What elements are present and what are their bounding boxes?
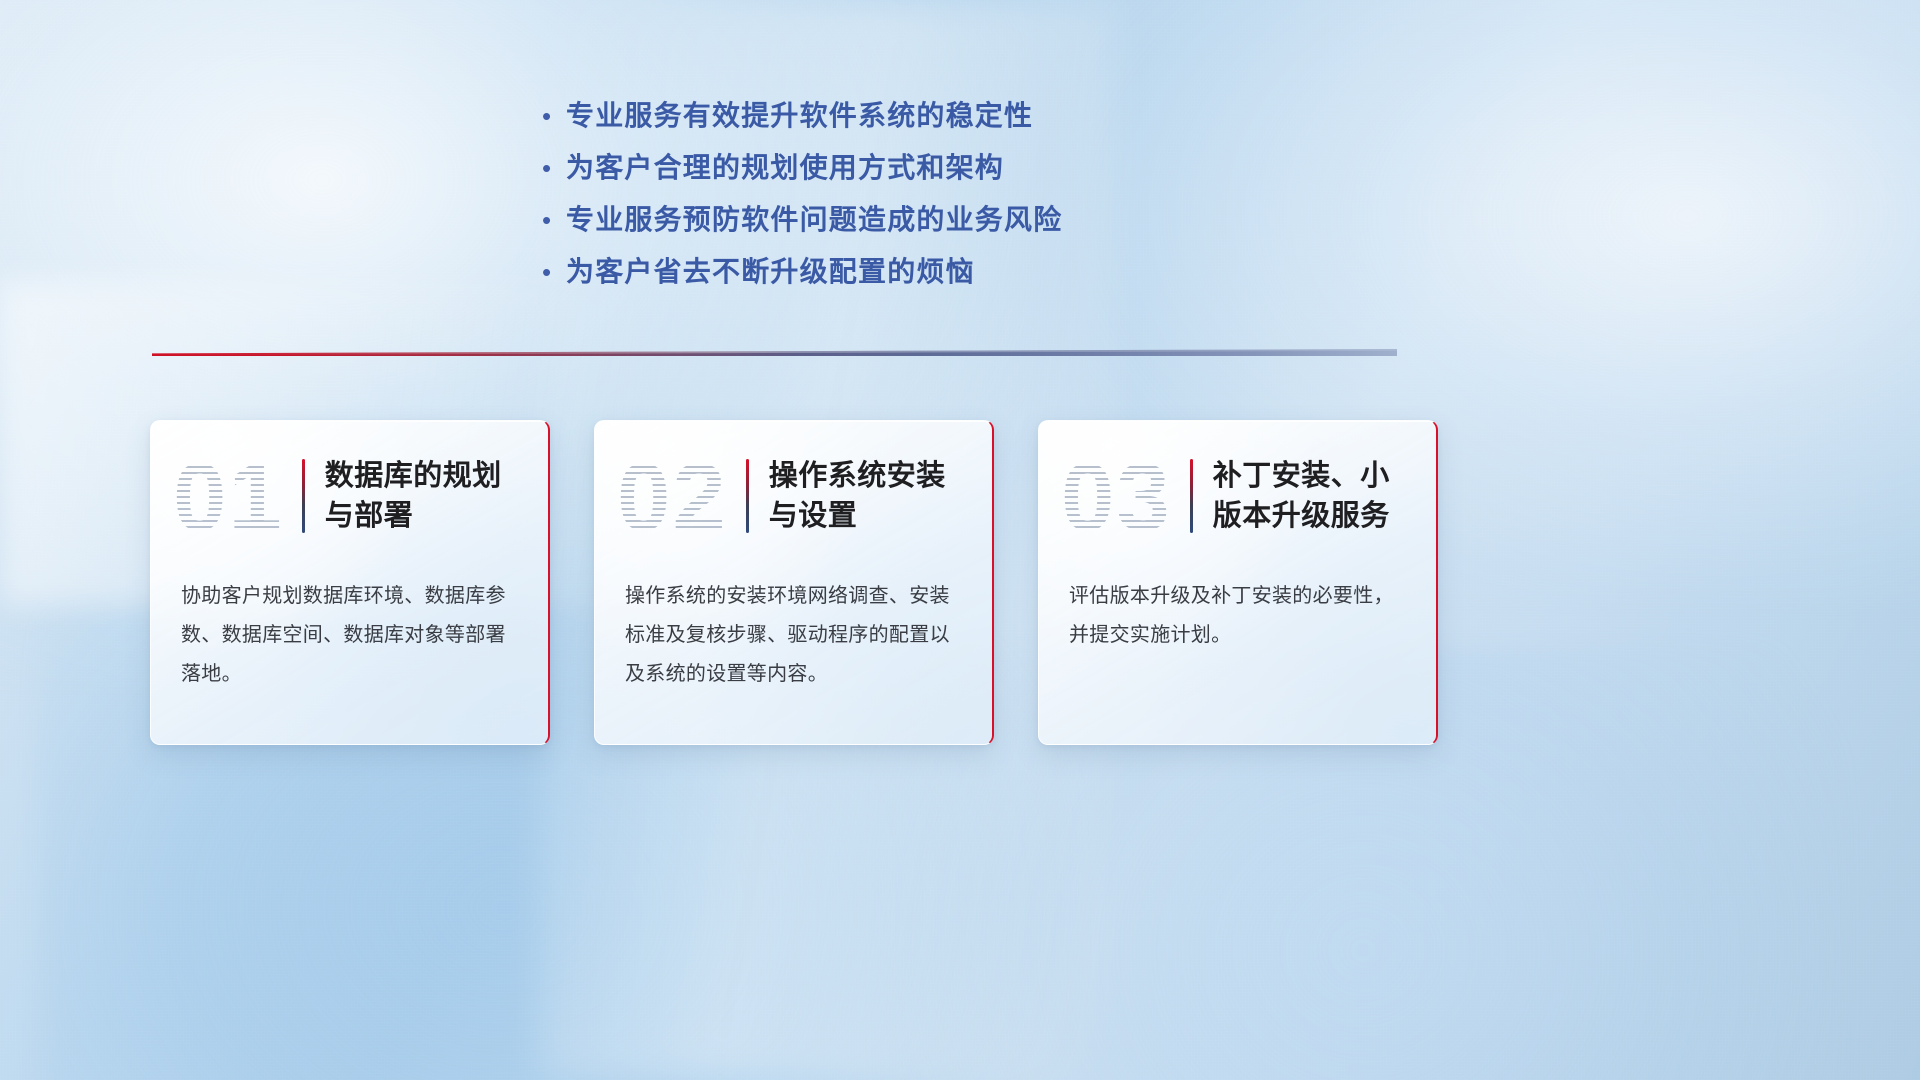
bullet-item-label: 为客户省去不断升级配置的烦恼 [566, 250, 975, 290]
card-number-badge: 02 [617, 450, 728, 546]
list-item: • 为客户合理的规划使用方式和架构 [536, 146, 1176, 198]
card-title: 操作系统安装与设置 [769, 456, 968, 536]
list-item: • 为客户省去不断升级配置的烦恼 [536, 250, 1176, 302]
card-header: 03 补丁安装、小版本升级服务 [1039, 421, 1436, 571]
bullet-dot-icon: • [536, 207, 566, 233]
bullet-item-label: 专业服务预防软件问题造成的业务风险 [566, 198, 1062, 238]
card-number-badge: 01 [173, 450, 284, 546]
benefits-bullet-list: • 专业服务有效提升软件系统的稳定性 • 为客户合理的规划使用方式和架构 • 专… [536, 94, 1176, 302]
bullet-dot-icon: • [536, 259, 566, 285]
card-divider-bar [1190, 459, 1193, 533]
bullet-item-label: 专业服务有效提升软件系统的稳定性 [566, 94, 1033, 134]
service-card-02[interactable]: 02 操作系统安装与设置 操作系统的安装环境网络调查、安装标准及复核步骤、驱动程… [594, 420, 994, 745]
card-title: 数据库的规划与部署 [325, 456, 524, 536]
list-item: • 专业服务预防软件问题造成的业务风险 [536, 198, 1176, 250]
section-divider [152, 349, 1397, 359]
card-divider-bar [302, 459, 305, 533]
card-description: 评估版本升级及补丁安装的必要性，并提交实施计划。 [1039, 571, 1436, 655]
card-divider-bar [746, 459, 749, 533]
bullet-item-label: 为客户合理的规划使用方式和架构 [566, 146, 1004, 186]
card-header: 02 操作系统安装与设置 [595, 421, 992, 571]
card-title: 补丁安装、小版本升级服务 [1213, 456, 1412, 536]
card-header: 01 数据库的规划与部署 [151, 421, 548, 571]
card-description: 操作系统的安装环境网络调查、安装标准及复核步骤、驱动程序的配置以及系统的设置等内… [595, 571, 992, 694]
bullet-dot-icon: • [536, 103, 566, 129]
service-card-group: 01 数据库的规划与部署 协助客户规划数据库环境、数据库参数、数据库空间、数据库… [150, 420, 1770, 745]
service-card-03[interactable]: 03 补丁安装、小版本升级服务 评估版本升级及补丁安装的必要性，并提交实施计划。 [1038, 420, 1438, 745]
bullet-dot-icon: • [536, 155, 566, 181]
card-description: 协助客户规划数据库环境、数据库参数、数据库空间、数据库对象等部署落地。 [151, 571, 548, 694]
list-item: • 专业服务有效提升软件系统的稳定性 [536, 94, 1176, 146]
card-number-badge: 03 [1061, 450, 1172, 546]
service-card-01[interactable]: 01 数据库的规划与部署 协助客户规划数据库环境、数据库参数、数据库空间、数据库… [150, 420, 550, 745]
